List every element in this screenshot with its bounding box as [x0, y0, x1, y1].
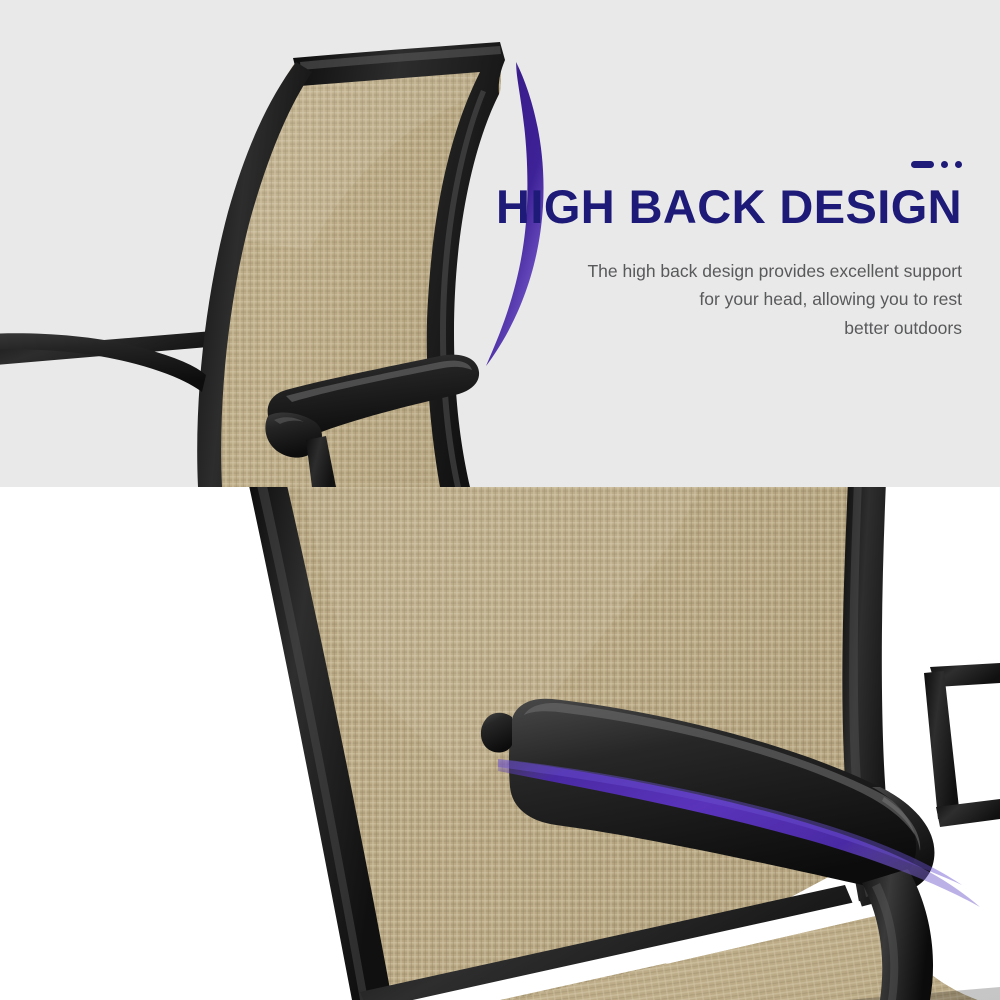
curved-armrest-chair-photo [0, 487, 1000, 1000]
body-line: for your head, allowing you to rest [699, 289, 962, 309]
dash-icon [911, 161, 934, 168]
dot-icon [955, 161, 962, 168]
dash-dot-marker [492, 160, 962, 169]
high-back-headline: HIGH BACK DESIGN [492, 183, 962, 231]
high-back-body: The high back design provides excellent … [492, 257, 962, 342]
product-feature-graphic: HIGH BACK DESIGN The high back design pr… [0, 0, 1000, 1000]
dot-icon [941, 161, 948, 168]
panel-curved-armrest: CURVED ARMREST DESIGN Smooth armrests gi… [0, 487, 1000, 1000]
body-line: better outdoors [844, 318, 962, 338]
panel-high-back: HIGH BACK DESIGN The high back design pr… [0, 0, 1000, 487]
body-line: The high back design provides excellent … [587, 261, 962, 281]
high-back-text-block: HIGH BACK DESIGN The high back design pr… [492, 160, 962, 342]
